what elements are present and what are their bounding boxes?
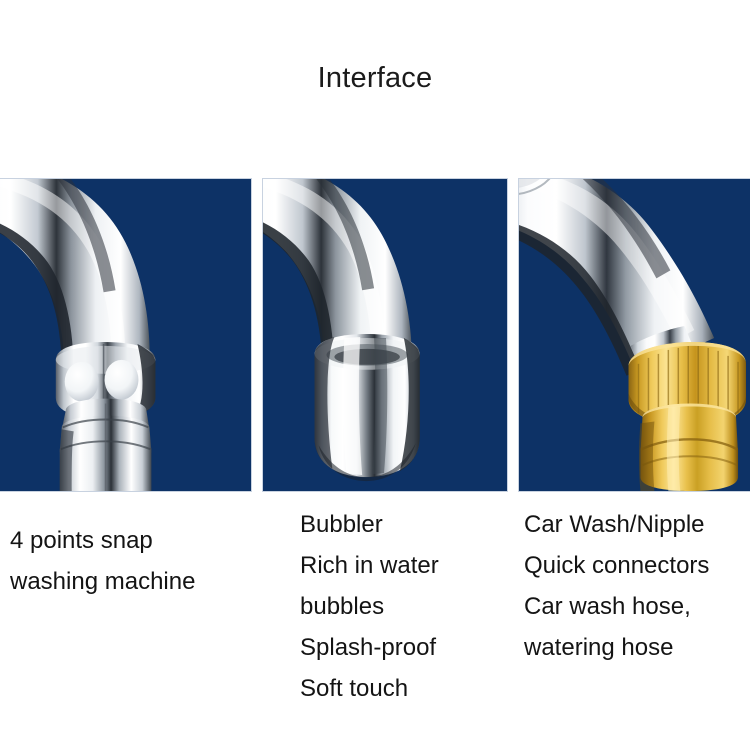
- faucet-brass-quick-connector-photo: [519, 179, 750, 491]
- product-image-panel-snap: [0, 178, 252, 492]
- product-image-panel-nipple: [518, 178, 750, 492]
- caption-line: Bubbler: [300, 504, 510, 545]
- caption-line: bubbles: [300, 586, 510, 627]
- caption-line: washing machine: [10, 561, 250, 602]
- caption-line: Soft touch: [300, 668, 510, 709]
- page-title: Interface: [0, 58, 750, 98]
- product-infographic: Interface: [0, 0, 750, 750]
- caption-line: watering hose: [524, 627, 750, 668]
- caption-line: 4 points snap: [10, 520, 250, 561]
- caption-area: 4 points snap washing machine Bubbler Ri…: [0, 492, 750, 750]
- caption-line: Splash-proof: [300, 627, 510, 668]
- caption-line: Rich in water: [300, 545, 510, 586]
- caption-column-nipple: Car Wash/Nipple Quick connectors Car was…: [524, 492, 750, 668]
- product-image-strip: [0, 178, 750, 492]
- caption-column-snap: 4 points snap washing machine: [10, 492, 250, 602]
- product-image-panel-bubbler: [262, 178, 508, 492]
- caption-line: Quick connectors: [524, 545, 750, 586]
- caption-line: Car Wash/Nipple: [524, 504, 750, 545]
- faucet-bubbler-cap-photo: [263, 179, 507, 491]
- faucet-snap-connector-photo: [0, 179, 251, 491]
- caption-column-bubbler: Bubbler Rich in water bubbles Splash-pro…: [300, 492, 510, 709]
- caption-line: Car wash hose,: [524, 586, 750, 627]
